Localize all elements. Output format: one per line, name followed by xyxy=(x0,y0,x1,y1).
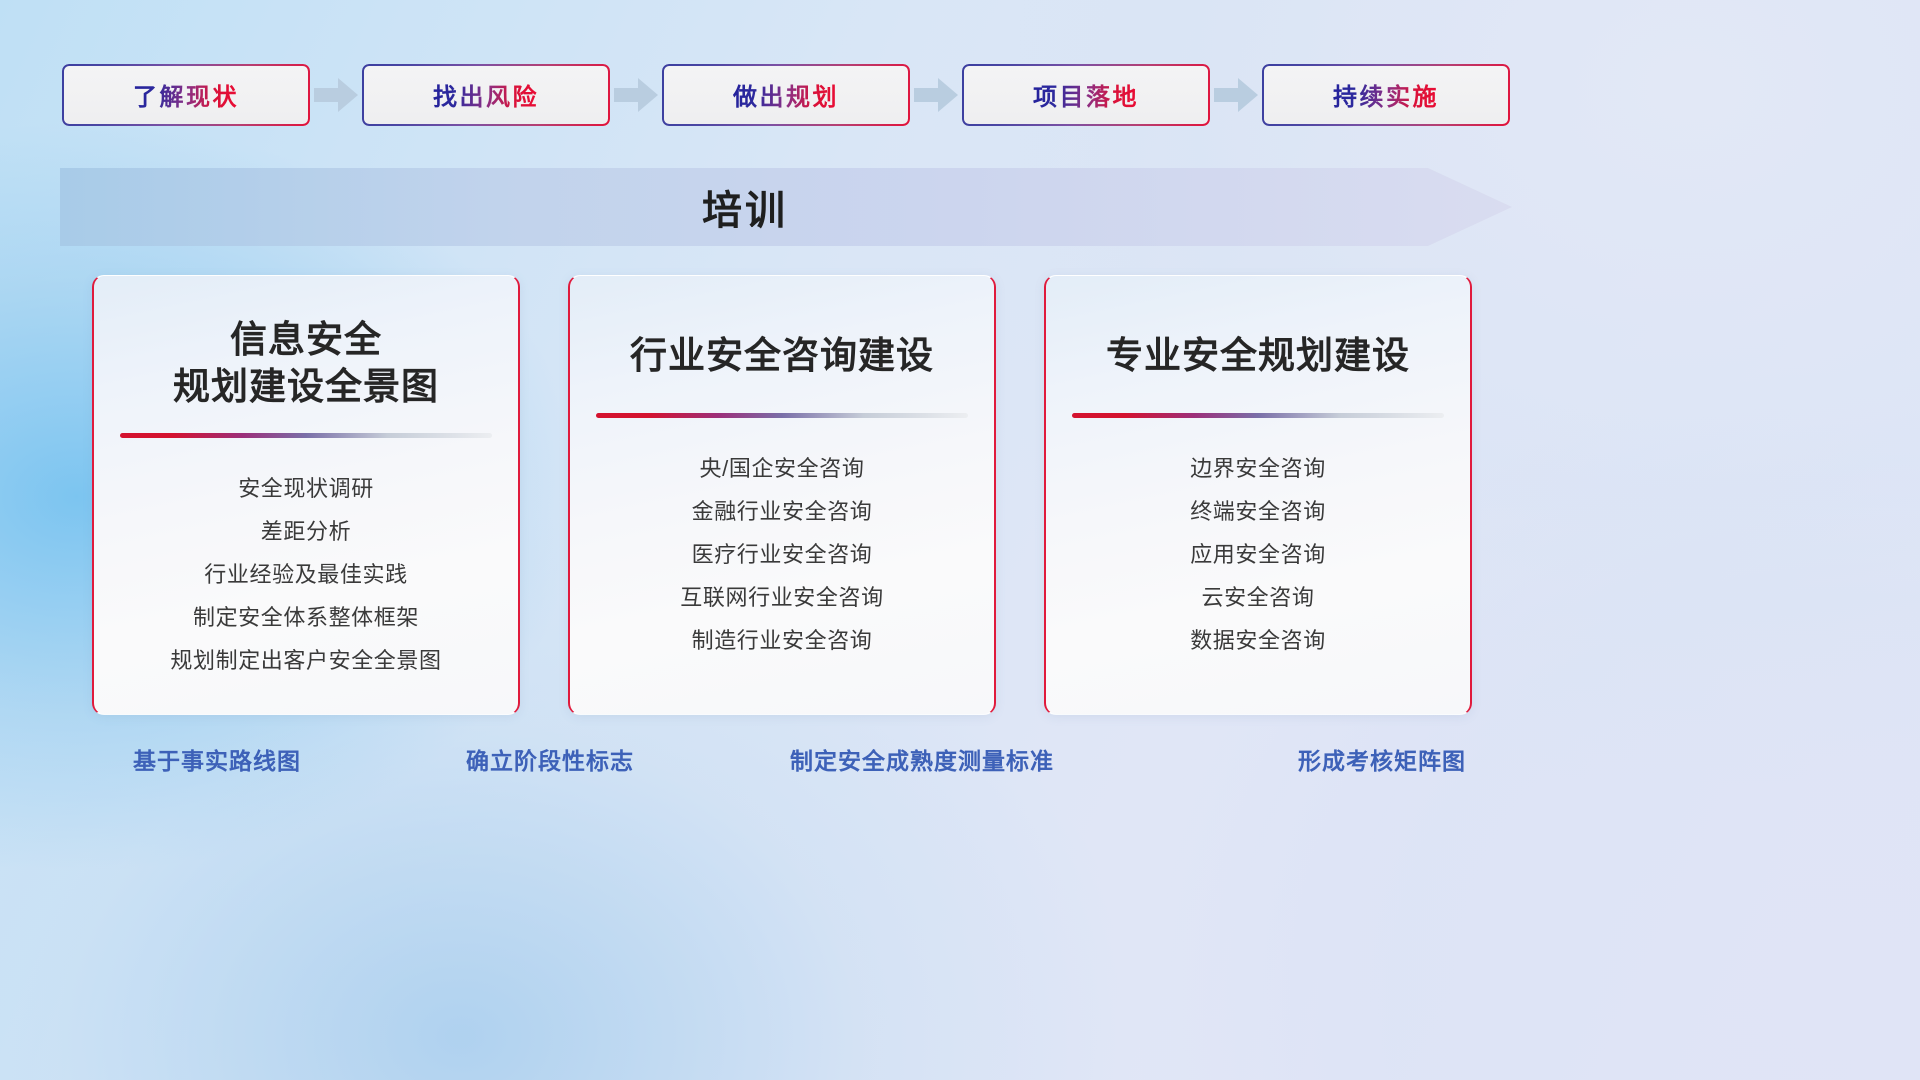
list-item: 边界安全咨询 xyxy=(1046,448,1470,491)
list-item: 差距分析 xyxy=(94,511,518,554)
step-box-4[interactable]: 持续实施 xyxy=(1262,64,1510,126)
card-industry-security-consulting[interactable]: 行业安全咨询建设 央/国企安全咨询 金融行业安全咨询 医疗行业安全咨询 互联网行… xyxy=(568,275,996,715)
card-title-0: 信息安全 规划建设全景图 xyxy=(94,316,518,411)
list-item: 医疗行业安全咨询 xyxy=(570,534,994,577)
step-box-0[interactable]: 了解现状 xyxy=(62,64,310,126)
card-title-line: 专业安全规划建设 xyxy=(1046,332,1470,379)
footnote-1: 确立阶段性标志 xyxy=(466,742,634,776)
list-item: 制定安全体系整体框架 xyxy=(94,597,518,640)
footnote-2: 制定安全成熟度测量标准 xyxy=(790,742,1054,776)
card-row: 信息安全 规划建设全景图 安全现状调研 差距分析 行业经验及最佳实践 制定安全体… xyxy=(92,275,1472,715)
card-divider-0 xyxy=(120,433,492,438)
list-item: 制造行业安全咨询 xyxy=(570,620,994,663)
footnote-row: 基于事实路线图 确立阶段性标志 制定安全成熟度测量标准 形成考核矩阵图 xyxy=(0,742,1920,788)
card-title-line: 行业安全咨询建设 xyxy=(570,332,994,379)
list-item: 终端安全咨询 xyxy=(1046,491,1470,534)
step-label-1: 找出风险 xyxy=(433,77,539,112)
card-title-2: 专业安全规划建设 xyxy=(1046,332,1470,379)
footnote-0: 基于事实路线图 xyxy=(133,742,301,776)
step-arrow-icon-1 xyxy=(610,75,662,115)
step-arrow-icon-2 xyxy=(910,75,962,115)
card-information-security-blueprint[interactable]: 信息安全 规划建设全景图 安全现状调研 差距分析 行业经验及最佳实践 制定安全体… xyxy=(92,275,520,715)
training-banner: 培训 xyxy=(60,168,1512,246)
list-item: 互联网行业安全咨询 xyxy=(570,577,994,620)
card-title-line: 信息安全 xyxy=(94,316,518,363)
card-title-1: 行业安全咨询建设 xyxy=(570,332,994,379)
list-item: 安全现状调研 xyxy=(94,468,518,511)
list-item: 行业经验及最佳实践 xyxy=(94,554,518,597)
step-box-1[interactable]: 找出风险 xyxy=(362,64,610,126)
list-item: 云安全咨询 xyxy=(1046,577,1470,620)
card-professional-security-planning[interactable]: 专业安全规划建设 边界安全咨询 终端安全咨询 应用安全咨询 云安全咨询 数据安全… xyxy=(1044,275,1472,715)
step-label-4: 持续实施 xyxy=(1333,77,1439,112)
list-item: 央/国企安全咨询 xyxy=(570,448,994,491)
list-item: 规划制定出客户安全全景图 xyxy=(94,640,518,683)
card-list-1: 央/国企安全咨询 金融行业安全咨询 医疗行业安全咨询 互联网行业安全咨询 制造行… xyxy=(570,448,994,663)
step-label-0: 了解现状 xyxy=(133,77,239,112)
list-item: 数据安全咨询 xyxy=(1046,620,1470,663)
card-title-line: 规划建设全景图 xyxy=(94,363,518,410)
list-item: 金融行业安全咨询 xyxy=(570,491,994,534)
step-label-2: 做出规划 xyxy=(733,77,839,112)
process-step-row: 了解现状 找出风险 做出规划 项目落地 持续实施 xyxy=(62,62,1512,127)
step-arrow-icon-0 xyxy=(310,75,362,115)
step-box-3[interactable]: 项目落地 xyxy=(962,64,1210,126)
step-box-2[interactable]: 做出规划 xyxy=(662,64,910,126)
card-divider-2 xyxy=(1072,413,1444,418)
banner-title: 培训 xyxy=(60,168,1430,246)
card-list-2: 边界安全咨询 终端安全咨询 应用安全咨询 云安全咨询 数据安全咨询 xyxy=(1046,448,1470,663)
card-divider-1 xyxy=(596,413,968,418)
step-arrow-icon-3 xyxy=(1210,75,1262,115)
list-item: 应用安全咨询 xyxy=(1046,534,1470,577)
card-list-0: 安全现状调研 差距分析 行业经验及最佳实践 制定安全体系整体框架 规划制定出客户… xyxy=(94,468,518,683)
footnote-3: 形成考核矩阵图 xyxy=(1298,742,1466,776)
step-label-3: 项目落地 xyxy=(1033,77,1139,112)
